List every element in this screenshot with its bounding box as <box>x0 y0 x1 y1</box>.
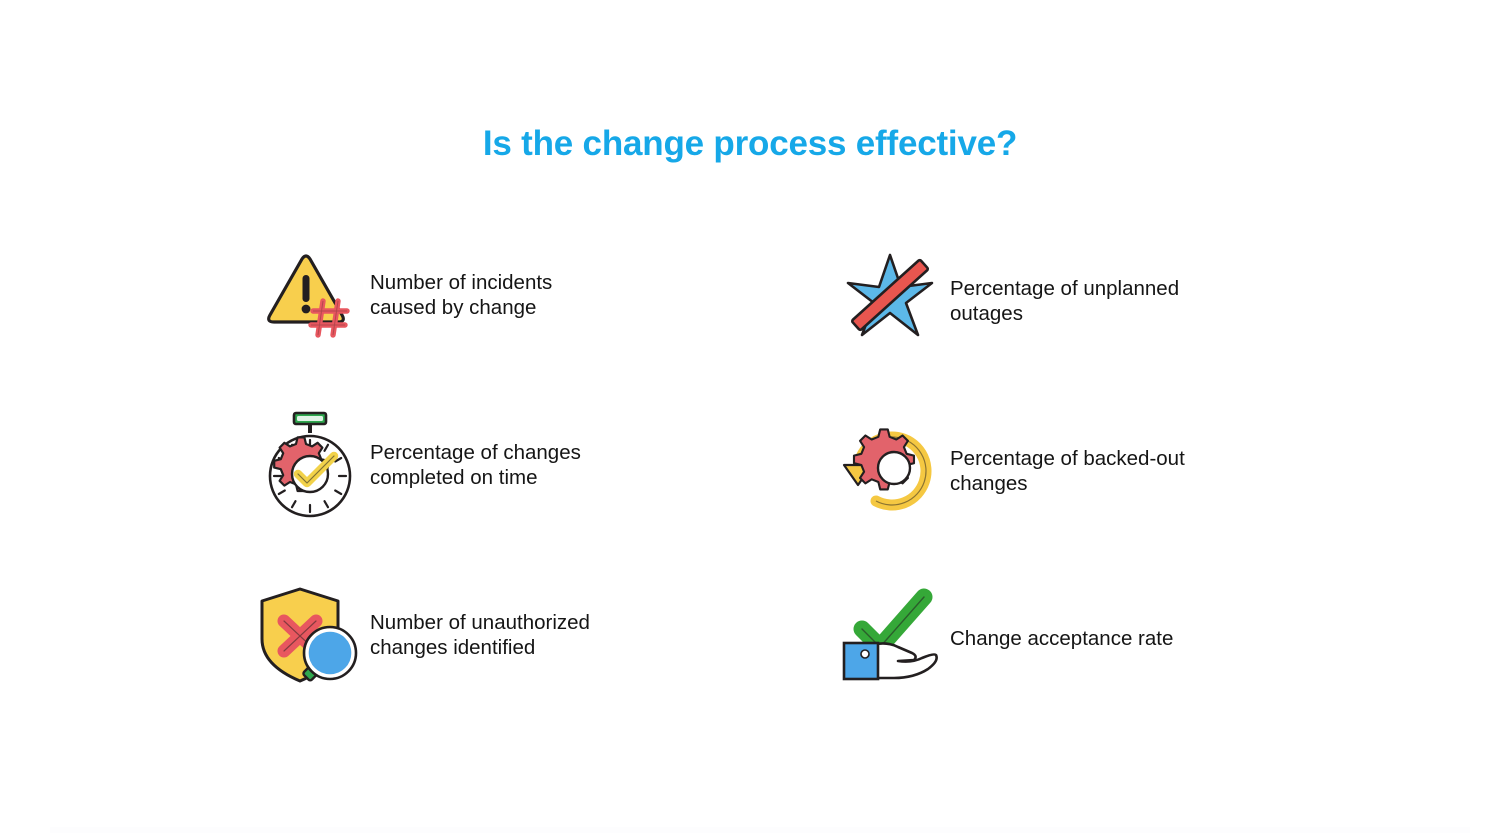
metric-item-backed-out-changes[interactable]: Percentage of backed-out changes <box>830 410 1310 580</box>
metrics-grid: Number of incidents caused by change Per… <box>250 240 1310 750</box>
stopwatch-gear-check-icon <box>250 410 370 520</box>
star-slashed-icon <box>830 240 950 350</box>
page-title: Is the change process effective? <box>0 124 1500 164</box>
metric-label: Number of unauthorized changes identifie… <box>370 580 590 660</box>
warning-hashtag-icon <box>250 240 370 350</box>
metric-label: Percentage of backed-out changes <box>950 410 1185 496</box>
metric-label: Percentage of changes completed on time <box>370 410 581 490</box>
metric-label: Number of incidents caused by change <box>370 240 552 320</box>
slide-canvas: Is the change process effective? <box>0 0 1500 833</box>
metric-item-unauthorized-changes-identified[interactable]: Number of unauthorized changes identifie… <box>250 580 830 750</box>
rollback-gear-icon <box>830 410 950 520</box>
metric-label: Change acceptance rate <box>950 580 1173 651</box>
hand-checkmark-icon <box>830 580 950 690</box>
metric-label: Percentage of unplanned outages <box>950 240 1179 326</box>
metric-item-change-acceptance-rate[interactable]: Change acceptance rate <box>830 580 1310 750</box>
shield-x-magnifier-icon <box>250 580 370 690</box>
metric-item-unplanned-outages[interactable]: Percentage of unplanned outages <box>830 240 1310 410</box>
slide-bottom-edge <box>50 827 1470 833</box>
metric-item-incidents-caused-by-change[interactable]: Number of incidents caused by change <box>250 240 830 410</box>
metric-item-changes-completed-on-time[interactable]: Percentage of changes completed on time <box>250 410 830 580</box>
